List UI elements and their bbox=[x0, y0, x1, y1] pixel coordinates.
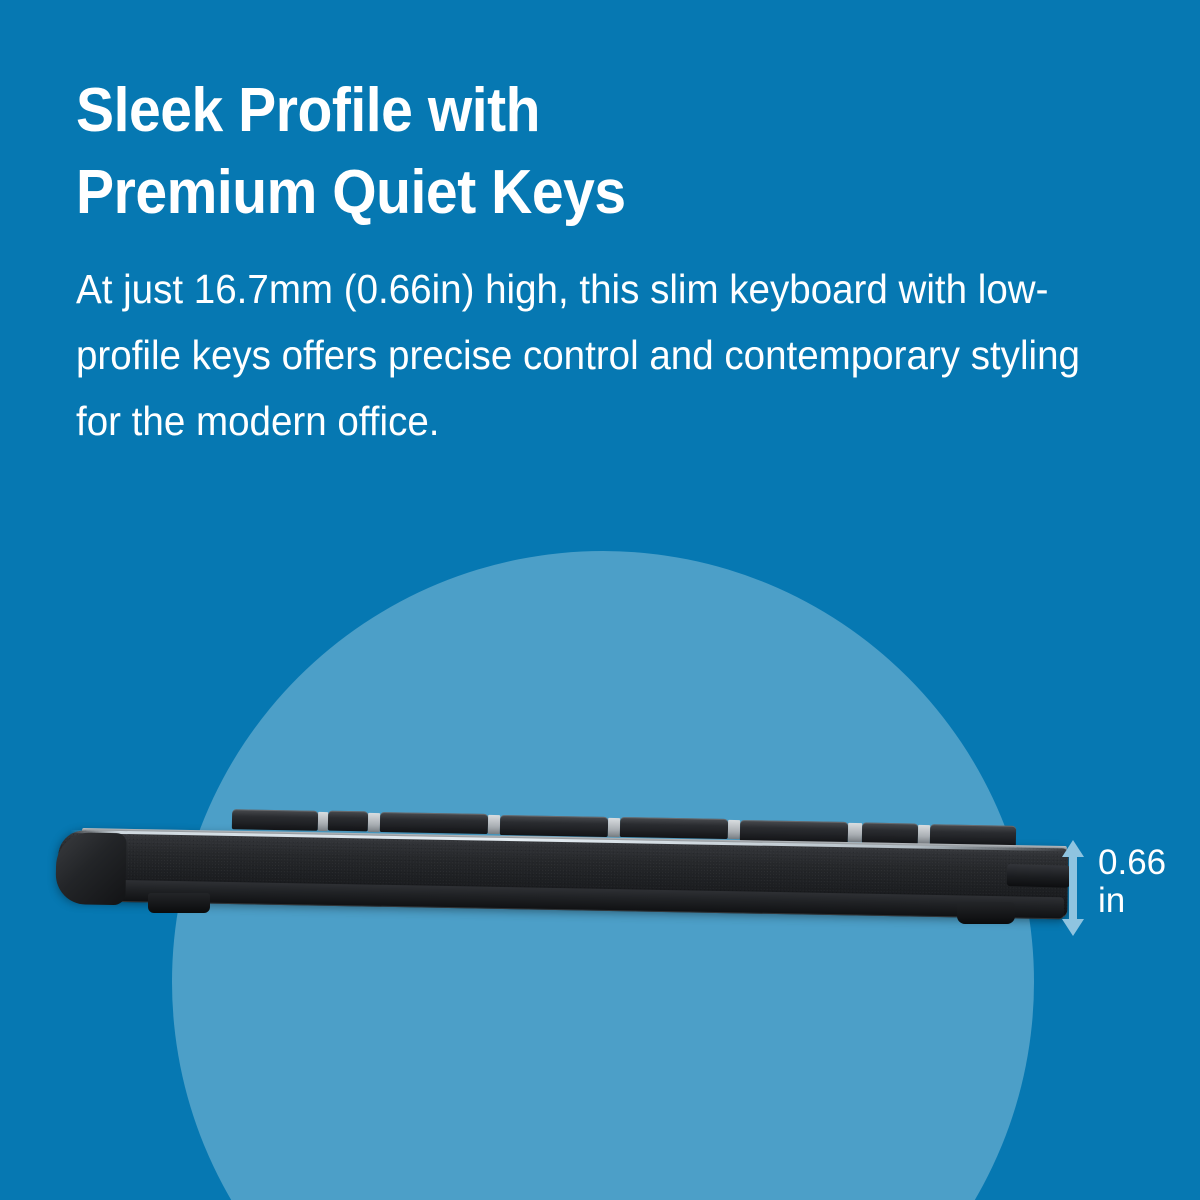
dimension-callout: 0.66 in bbox=[1056, 838, 1186, 938]
keycap bbox=[862, 822, 918, 844]
keycap-gap bbox=[608, 818, 620, 837]
dimension-value-label: 0.66 in bbox=[1098, 844, 1166, 920]
keycap-gap bbox=[318, 812, 328, 831]
keycap-gap bbox=[848, 823, 862, 842]
keyboard-rubber-foot-right bbox=[957, 902, 1015, 924]
page-title: Sleek Profile with Premium Quiet Keys bbox=[76, 70, 1060, 234]
keycap-gap bbox=[918, 825, 930, 844]
product-feature-card: 0.66 in Sleek Profile with Premium Quiet… bbox=[0, 0, 1200, 1200]
keyboard-side-profile-image bbox=[52, 780, 1067, 945]
keycap-gap bbox=[368, 813, 380, 832]
page-subtitle: At just 16.7mm (0.66in) high, this slim … bbox=[76, 256, 1082, 455]
marketing-copy-block: Sleek Profile with Premium Quiet Keys At… bbox=[76, 70, 1146, 455]
keycap bbox=[232, 809, 318, 831]
keycap bbox=[328, 811, 368, 832]
keyboard-left-end-cap bbox=[55, 832, 126, 905]
keycap-gap bbox=[488, 815, 500, 834]
keycap-gap bbox=[728, 820, 740, 839]
keyboard-rubber-foot-left bbox=[148, 893, 210, 913]
keycap bbox=[380, 812, 488, 834]
keycap bbox=[620, 817, 728, 839]
keycap bbox=[500, 815, 608, 837]
double-headed-arrow-icon bbox=[1056, 838, 1090, 938]
